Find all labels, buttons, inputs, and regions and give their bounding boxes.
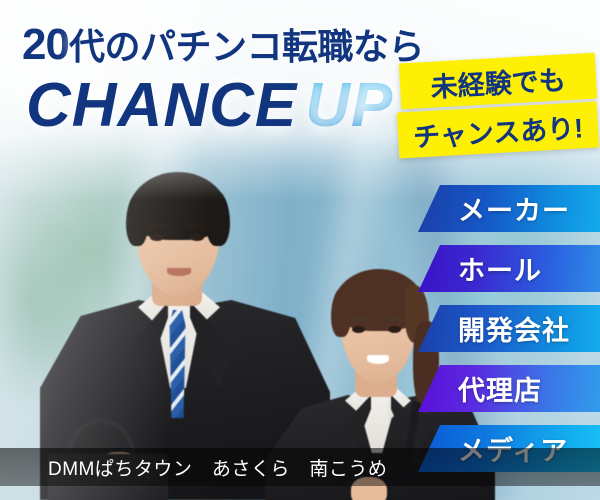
brand-logo: CHANCEUP (26, 70, 393, 141)
page-title: 20代のパチンコ転職なら (22, 18, 424, 70)
category-button-development-company[interactable]: 開発会社 (418, 305, 600, 352)
caption-bar: DMMぱちタウン あさくら 南こうめ (0, 448, 600, 486)
headline-number: 20 (22, 20, 69, 69)
ad-banner: 20代のパチンコ転職なら CHANCEUP 未経験でも チャンスあり! メーカー… (0, 0, 600, 500)
category-button-maker[interactable]: メーカー (418, 185, 600, 232)
headline-rest: 代のパチンコ転職なら (69, 26, 424, 67)
category-button-hall-label: ホール (458, 249, 542, 288)
category-button-maker-label: メーカー (458, 189, 570, 228)
category-button-development-company-label: 開発会社 (458, 309, 570, 348)
category-button-hall[interactable]: ホール (418, 245, 600, 292)
brand-logo-accent: UP (305, 71, 393, 140)
badge-no-experience-label: 未経験でも (430, 58, 567, 104)
category-button-agency[interactable]: 代理店 (418, 365, 600, 412)
caption-text: DMMぱちタウン あさくら 南こうめ (48, 454, 387, 481)
category-button-agency-label: 代理店 (458, 369, 542, 408)
badge-chance-available-label: チャンスあり! (412, 106, 584, 154)
brand-logo-main: CHANCE (26, 71, 297, 140)
